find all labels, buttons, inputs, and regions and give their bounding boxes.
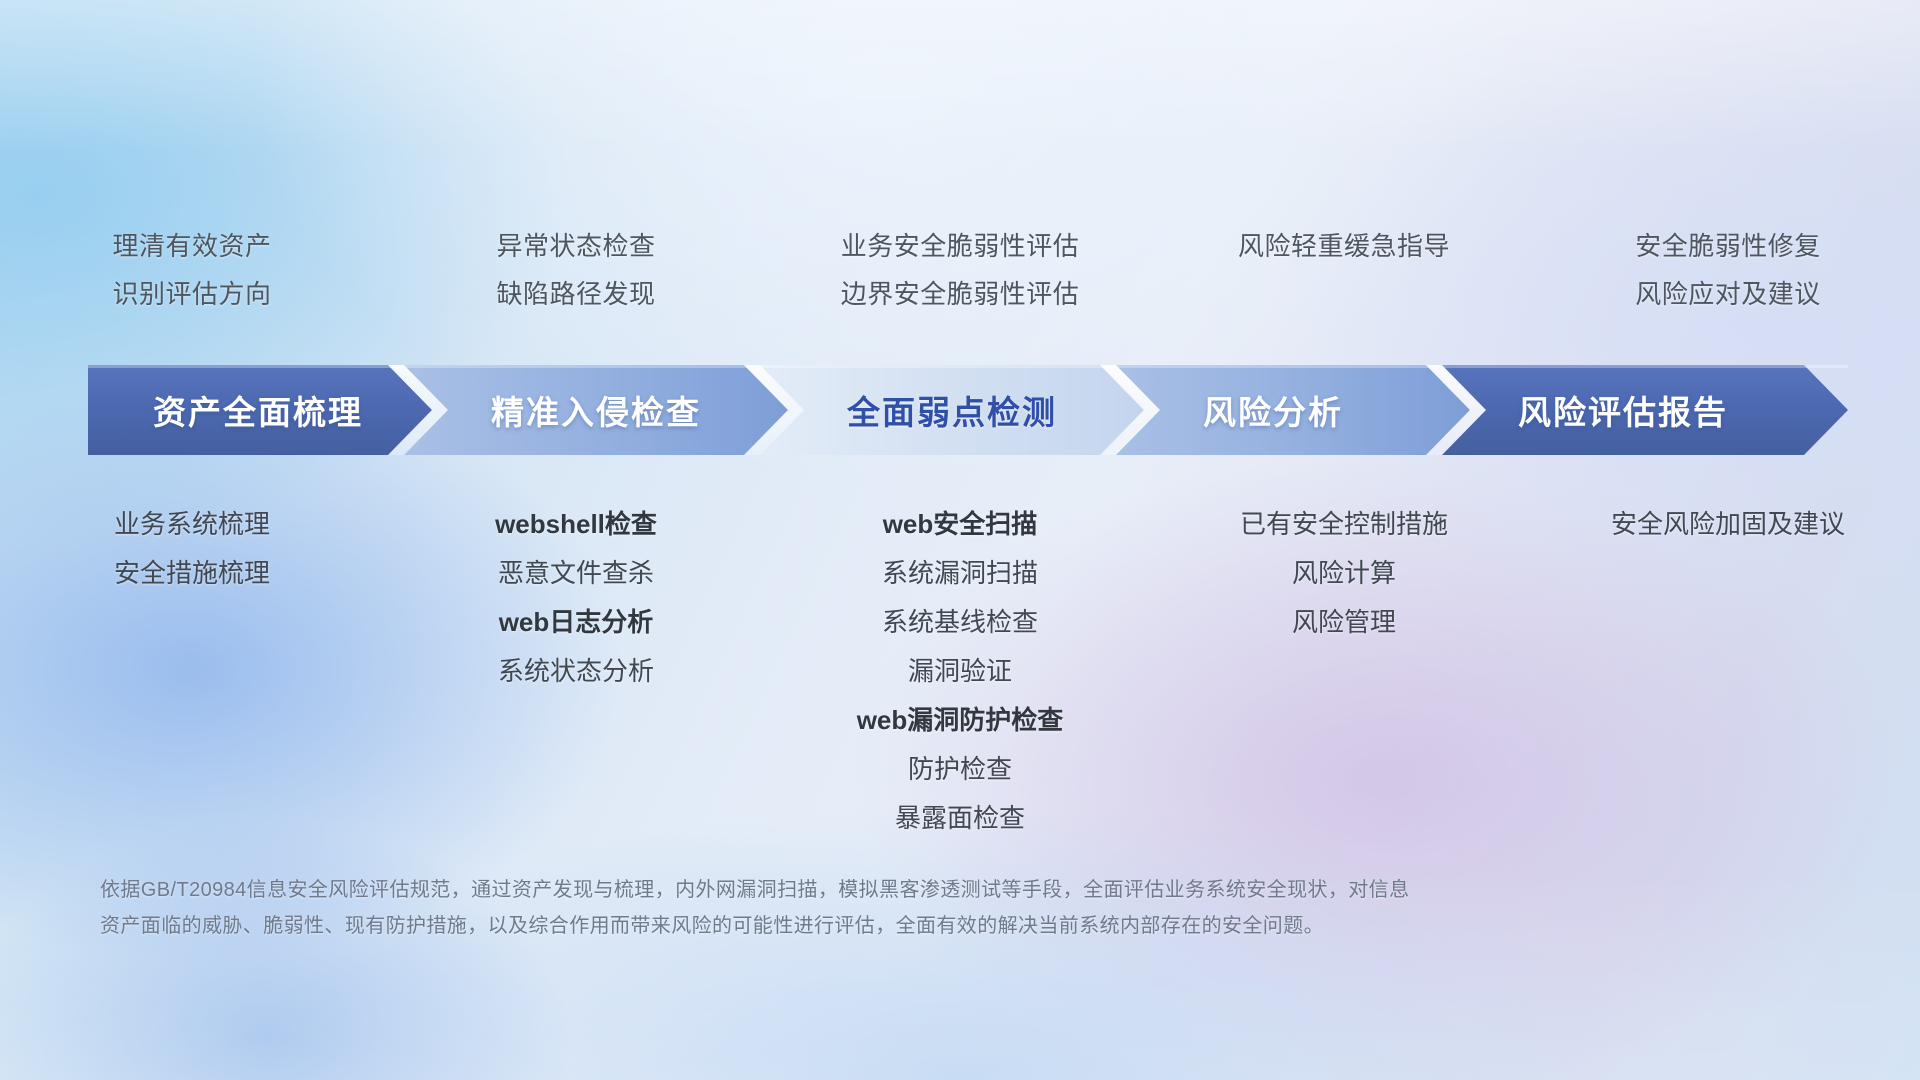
top-caption-column-risk-analysis: 风险轻重缓急指导	[1152, 222, 1536, 332]
stage-item: 已有安全控制措施	[1240, 500, 1448, 549]
process-arrow-band	[88, 365, 1848, 455]
stage-items-asset-inventory: 业务系统梳理安全措施梳理	[0, 500, 384, 843]
stage-item: web漏洞防护检查	[857, 696, 1064, 745]
top-caption-column-asset-inventory: 理清有效资产识别评估方向	[0, 222, 384, 332]
top-caption: 业务安全脆弱性评估	[841, 222, 1080, 270]
stage-item: 安全风险加固及建议	[1611, 500, 1845, 549]
top-caption-column-intrusion-check: 异常状态检查缺陷路径发现	[384, 222, 768, 332]
top-caption: 识别评估方向	[112, 270, 271, 318]
stage-item: 系统基线检查	[882, 598, 1038, 647]
stage-item: 安全措施梳理	[114, 549, 270, 598]
top-caption: 风险轻重缓急指导	[1238, 222, 1450, 270]
stage-item: 业务系统梳理	[114, 500, 270, 549]
top-caption: 风险应对及建议	[1635, 270, 1821, 318]
top-captions-row: 理清有效资产识别评估方向异常状态检查缺陷路径发现业务安全脆弱性评估边界安全脆弱性…	[0, 222, 1920, 332]
stage-item: 风险计算	[1292, 549, 1396, 598]
footer-line-2: 资产面临的威胁、脆弱性、现有防护措施，以及综合作用而带来风险的可能性进行评估，全…	[100, 908, 1660, 944]
stage-item: 防护检查	[908, 745, 1012, 794]
stage-items-weakness-detection: web安全扫描系统漏洞扫描系统基线检查漏洞验证web漏洞防护检查防护检查暴露面检…	[768, 500, 1152, 843]
top-caption-column-risk-report: 安全脆弱性修复风险应对及建议	[1536, 222, 1920, 332]
stage-item: 恶意文件查杀	[498, 549, 654, 598]
stage-item: webshell检查	[495, 500, 657, 549]
footer-line-1: 依据GB/T20984信息安全风险评估规范，通过资产发现与梳理，内外网漏洞扫描，…	[100, 872, 1660, 908]
footer-description: 依据GB/T20984信息安全风险评估规范，通过资产发现与梳理，内外网漏洞扫描，…	[100, 872, 1660, 944]
top-caption: 安全脆弱性修复	[1635, 222, 1821, 270]
stage-item: 风险管理	[1292, 598, 1396, 647]
top-caption: 边界安全脆弱性评估	[841, 270, 1080, 318]
stage-item: 暴露面检查	[895, 794, 1025, 843]
stage-item: web安全扫描	[883, 500, 1038, 549]
stage-item: 漏洞验证	[908, 647, 1012, 696]
top-caption-column-weakness-detection: 业务安全脆弱性评估边界安全脆弱性评估	[768, 222, 1152, 332]
stage-item: 系统状态分析	[498, 647, 654, 696]
stage-items-intrusion-check: webshell检查恶意文件查杀web日志分析系统状态分析	[384, 500, 768, 843]
top-caption: 理清有效资产	[112, 222, 271, 270]
stage-items-row: 业务系统梳理安全措施梳理webshell检查恶意文件查杀web日志分析系统状态分…	[0, 500, 1920, 843]
stage-items-risk-analysis: 已有安全控制措施风险计算风险管理	[1152, 500, 1536, 843]
stage-items-risk-report: 安全风险加固及建议	[1536, 500, 1920, 843]
top-caption: 缺陷路径发现	[496, 270, 655, 318]
stage-item: web日志分析	[499, 598, 654, 647]
top-caption: 异常状态检查	[496, 222, 655, 270]
stage-item: 系统漏洞扫描	[882, 549, 1038, 598]
